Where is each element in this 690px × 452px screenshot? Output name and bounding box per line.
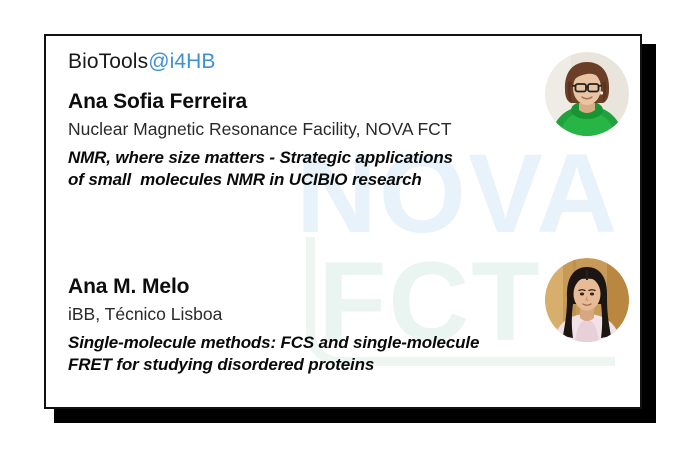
avatar-photo-woman-long-dark-hair xyxy=(545,258,629,342)
brand-title: BioTools@i4HB xyxy=(68,50,216,74)
talk-title-line-1: Single-molecule methods: FCS and single-… xyxy=(68,332,588,354)
speaker-name: Ana Sofia Ferreira xyxy=(68,90,588,115)
talk-title-line-2: FRET for studying disordered proteins xyxy=(68,354,588,376)
speaker-affiliation: iBB, Técnico Lisboa xyxy=(68,304,588,325)
brand-accent: @i4HB xyxy=(148,50,215,73)
talk-title: NMR, where size matters - Strategic appl… xyxy=(68,147,588,191)
speaker-announcement-card: NOVA FCT BioTools@i4HB Ana Sofia Ferreir… xyxy=(44,34,642,409)
speaker-name: Ana M. Melo xyxy=(68,275,588,300)
avatar xyxy=(545,258,629,342)
speaker-entry: Ana Sofia Ferreira Nuclear Magnetic Reso… xyxy=(68,90,588,190)
screenshot-stage: NOVA FCT BioTools@i4HB Ana Sofia Ferreir… xyxy=(0,0,690,452)
avatar xyxy=(545,52,629,136)
talk-title-line-1: NMR, where size matters - Strategic appl… xyxy=(68,147,588,169)
speaker-affiliation: Nuclear Magnetic Resonance Facility, NOV… xyxy=(68,119,588,140)
avatar-photo-woman-glasses-green-turtleneck xyxy=(545,52,629,136)
talk-title: Single-molecule methods: FCS and single-… xyxy=(68,332,588,376)
speaker-entry: Ana M. Melo iBB, Técnico Lisboa Single-m… xyxy=(68,275,588,375)
talk-title-line-2: of small molecules NMR in UCIBIO researc… xyxy=(68,169,588,191)
brand-prefix: BioTools xyxy=(68,50,148,73)
